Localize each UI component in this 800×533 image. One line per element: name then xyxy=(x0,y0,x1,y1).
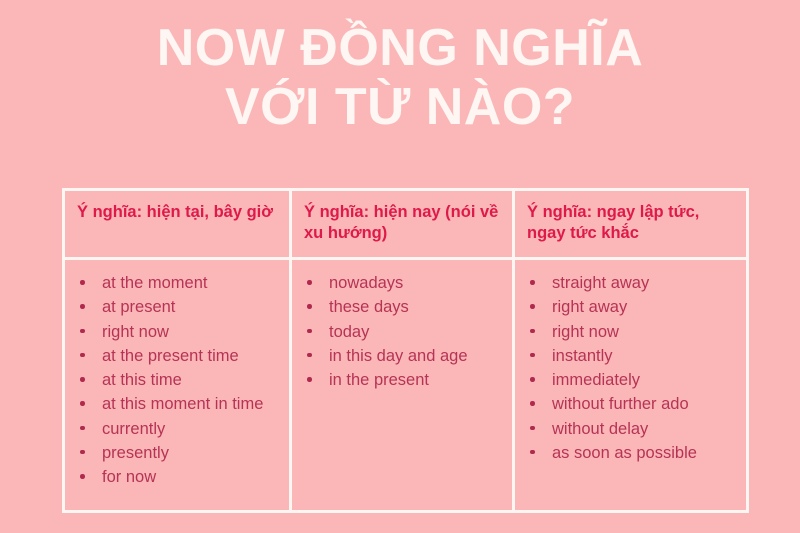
bullet-icon xyxy=(80,377,85,382)
bullet-icon xyxy=(80,401,85,406)
list-item-label: presently xyxy=(102,444,169,462)
table-column-2: Ý nghĩa: hiện nay (nói về xu hướng) nowa… xyxy=(292,191,515,510)
synonyms-table: Ý nghĩa: hiện tại, bây giờ at the moment… xyxy=(62,188,749,513)
list-item-label: today xyxy=(329,323,369,341)
list-item: at this moment in time xyxy=(75,392,283,416)
bullet-icon xyxy=(80,280,85,285)
list-item: in this day and age xyxy=(302,344,506,368)
list-item-label: immediately xyxy=(552,371,640,389)
list-item-label: currently xyxy=(102,420,165,438)
synonym-list-1: at the moment at present right now at th… xyxy=(75,271,283,489)
bullet-icon xyxy=(307,280,312,285)
bullet-icon xyxy=(307,304,312,309)
list-item-label: at the present time xyxy=(102,347,239,365)
list-item-label: these days xyxy=(329,298,409,316)
list-item: presently xyxy=(75,441,283,465)
list-item-label: at this time xyxy=(102,371,182,389)
list-item-label: at this moment in time xyxy=(102,395,263,413)
page-title: NOW ĐỒNG NGHĨA VỚI TỪ NÀO? xyxy=(0,22,800,134)
table-column-3: Ý nghĩa: ngay lập tức, ngay tức khắc str… xyxy=(515,191,746,510)
list-item-label: right now xyxy=(102,323,169,341)
list-item: without further ado xyxy=(525,392,740,416)
column-body-2: nowadays these days today in this day an… xyxy=(292,260,512,510)
list-item: these days xyxy=(302,295,506,319)
list-item-label: in the present xyxy=(329,371,429,389)
list-item: for now xyxy=(75,465,283,489)
title-line-1: NOW ĐỒNG NGHĨA xyxy=(0,22,800,75)
list-item: instantly xyxy=(525,344,740,368)
column-header-3: Ý nghĩa: ngay lập tức, ngay tức khắc xyxy=(515,191,746,260)
bullet-icon xyxy=(530,401,535,406)
bullet-icon xyxy=(80,474,85,479)
bullet-icon xyxy=(307,329,312,334)
list-item: nowadays xyxy=(302,271,506,295)
list-item-label: without further ado xyxy=(552,395,689,413)
bullet-icon xyxy=(80,329,85,334)
list-item-label: as soon as possible xyxy=(552,444,697,462)
list-item-label: for now xyxy=(102,468,156,486)
list-item: in the present xyxy=(302,368,506,392)
column-header-2: Ý nghĩa: hiện nay (nói về xu hướng) xyxy=(292,191,512,260)
list-item: right away xyxy=(525,295,740,319)
list-item-label: at the moment xyxy=(102,274,207,292)
list-item-label: right away xyxy=(552,298,627,316)
list-item: at present xyxy=(75,295,283,319)
bullet-icon xyxy=(80,353,85,358)
bullet-icon xyxy=(530,377,535,382)
list-item-label: instantly xyxy=(552,347,613,365)
bullet-icon xyxy=(80,304,85,309)
poster-canvas: NOW ĐỒNG NGHĨA VỚI TỪ NÀO? Ý nghĩa: hiện… xyxy=(0,0,800,533)
bullet-icon xyxy=(530,280,535,285)
list-item-label: at present xyxy=(102,298,175,316)
list-item: straight away xyxy=(525,271,740,295)
list-item: as soon as possible xyxy=(525,441,740,465)
bullet-icon xyxy=(530,304,535,309)
synonym-list-2: nowadays these days today in this day an… xyxy=(302,271,506,392)
column-body-1: at the moment at present right now at th… xyxy=(65,260,289,510)
bullet-icon xyxy=(307,377,312,382)
bullet-icon xyxy=(530,353,535,358)
list-item: immediately xyxy=(525,368,740,392)
list-item: currently xyxy=(75,417,283,441)
list-item-label: in this day and age xyxy=(329,347,468,365)
bullet-icon xyxy=(80,426,85,431)
title-line-2: VỚI TỪ NÀO? xyxy=(0,81,800,134)
bullet-icon xyxy=(530,329,535,334)
list-item: right now xyxy=(75,320,283,344)
bullet-icon xyxy=(80,450,85,455)
list-item: at this time xyxy=(75,368,283,392)
list-item: today xyxy=(302,320,506,344)
list-item-label: nowadays xyxy=(329,274,403,292)
column-body-3: straight away right away right now insta… xyxy=(515,260,746,510)
list-item: at the present time xyxy=(75,344,283,368)
bullet-icon xyxy=(530,426,535,431)
list-item: right now xyxy=(525,320,740,344)
bullet-icon xyxy=(530,450,535,455)
list-item-label: right now xyxy=(552,323,619,341)
list-item: at the moment xyxy=(75,271,283,295)
list-item-label: without delay xyxy=(552,420,648,438)
column-header-1: Ý nghĩa: hiện tại, bây giờ xyxy=(65,191,289,260)
table-column-1: Ý nghĩa: hiện tại, bây giờ at the moment… xyxy=(65,191,292,510)
bullet-icon xyxy=(307,353,312,358)
list-item: without delay xyxy=(525,417,740,441)
synonym-list-3: straight away right away right now insta… xyxy=(525,271,740,465)
list-item-label: straight away xyxy=(552,274,649,292)
